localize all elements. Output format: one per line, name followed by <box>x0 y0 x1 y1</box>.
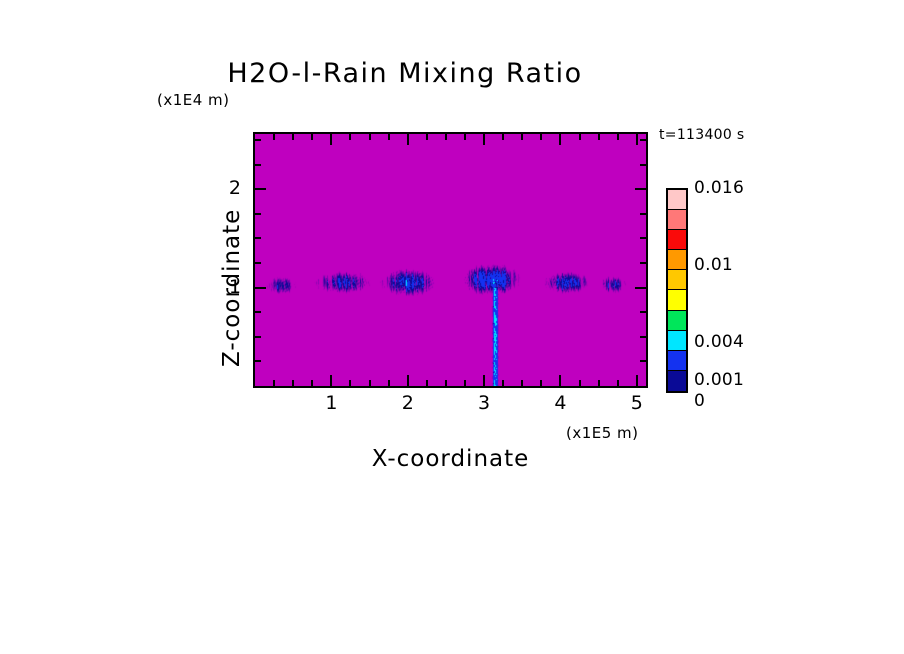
axis-tick <box>426 380 428 386</box>
axis-tick <box>330 375 332 386</box>
y-axis-multiplier-label: (x1E4 m) <box>157 91 230 109</box>
axis-tick <box>640 139 646 141</box>
x-tick-label: 3 <box>464 392 504 414</box>
axis-tick <box>640 164 646 166</box>
axis-tick <box>617 134 619 140</box>
axis-tick <box>255 262 261 264</box>
colorbar-band <box>668 311 686 331</box>
axis-tick <box>369 380 371 386</box>
x-tick-label: 5 <box>617 392 657 414</box>
axis-tick <box>502 134 504 140</box>
colorbar-band <box>668 190 686 210</box>
colorbar-band <box>668 290 686 310</box>
axis-tick <box>255 139 261 141</box>
axis-tick <box>255 336 261 338</box>
axis-tick <box>255 287 266 289</box>
colorbar-label: 0.016 <box>694 178 744 198</box>
colorbar-label: 0.01 <box>694 255 733 275</box>
axis-tick <box>598 380 600 386</box>
axis-tick <box>640 311 646 313</box>
chart-title-text: H2O-l-Rain Mixing Ratio <box>227 58 582 89</box>
y-tick-label: 2 <box>213 177 241 199</box>
axis-tick <box>559 134 561 145</box>
axis-tick <box>330 134 332 145</box>
axis-tick <box>255 188 266 190</box>
colorbar-band <box>668 250 686 270</box>
figure-canvas: H2O-l-Rain Mixing Ratio (x1E4 m) t=11340… <box>0 0 904 654</box>
colorbar-label: 0.004 <box>694 332 744 352</box>
axis-tick <box>521 134 523 140</box>
axis-tick <box>255 213 261 215</box>
axis-tick <box>502 380 504 386</box>
axis-tick <box>640 262 646 264</box>
axis-tick <box>540 134 542 140</box>
axis-tick <box>521 380 523 386</box>
axis-tick <box>636 134 638 145</box>
axis-tick <box>255 311 261 313</box>
axis-tick <box>640 336 646 338</box>
axis-tick <box>273 380 275 386</box>
axis-tick <box>388 134 390 140</box>
axis-tick <box>640 360 646 362</box>
colorbar-band <box>668 230 686 250</box>
x-axis-title: X-coordinate <box>253 446 648 472</box>
axis-tick <box>617 380 619 386</box>
axis-tick <box>445 380 447 386</box>
axis-tick <box>559 375 561 386</box>
axis-tick <box>579 134 581 140</box>
axis-tick <box>407 134 409 145</box>
colorbar-band <box>668 331 686 351</box>
axis-tick <box>635 188 646 190</box>
axis-tick <box>388 380 390 386</box>
axis-tick <box>426 134 428 140</box>
chart-title: H2O-l-Rain Mixing Ratio <box>0 58 904 89</box>
colorbar <box>666 188 688 393</box>
axis-tick <box>273 134 275 140</box>
axis-tick <box>292 134 294 140</box>
heatmap-field <box>255 134 646 386</box>
x-tick-label: 2 <box>388 392 428 414</box>
axis-tick <box>483 375 485 386</box>
colorbar-band <box>668 270 686 290</box>
y-axis-title: Z-coordinate <box>219 209 245 367</box>
axis-tick <box>464 134 466 140</box>
axis-tick <box>464 380 466 386</box>
axis-tick <box>349 380 351 386</box>
axis-tick <box>445 134 447 140</box>
timestamp-annotation: t=113400 s <box>659 127 744 143</box>
axis-tick <box>640 213 646 215</box>
axis-tick <box>635 287 646 289</box>
axis-tick <box>640 237 646 239</box>
axis-tick <box>255 237 261 239</box>
plot-area <box>253 132 648 388</box>
axis-tick <box>369 134 371 140</box>
axis-tick <box>311 134 313 140</box>
x-axis-multiplier-label: (x1E5 m) <box>566 424 639 442</box>
colorbar-band <box>668 371 686 391</box>
axis-tick <box>311 380 313 386</box>
axis-tick <box>407 375 409 386</box>
axis-tick <box>579 380 581 386</box>
x-tick-label: 4 <box>540 392 580 414</box>
colorbar-label: 0.001 <box>694 370 744 390</box>
axis-tick <box>636 375 638 386</box>
axis-tick <box>255 360 261 362</box>
axis-tick <box>349 134 351 140</box>
x-tick-label: 1 <box>311 392 351 414</box>
axis-tick <box>255 164 261 166</box>
axis-tick <box>292 380 294 386</box>
colorbar-label: 0 <box>694 391 705 411</box>
axis-tick <box>598 134 600 140</box>
axis-tick <box>483 134 485 145</box>
colorbar-band <box>668 210 686 230</box>
colorbar-band <box>668 351 686 371</box>
axis-tick <box>540 380 542 386</box>
